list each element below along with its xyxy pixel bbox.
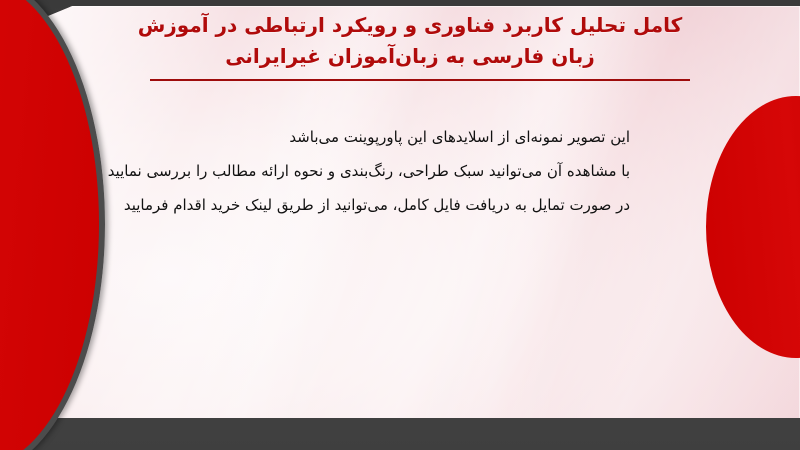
slide-body-text: این تصویر نمونه‌ای از اسلایدهای این پاور… [160,120,630,222]
title-divider-rule [150,79,690,81]
body-line-3: در صورت تمایل به دریافت فایل کامل، می‌تو… [160,188,630,222]
title-line-2: زبان فارسی به زبان‌آموزان غیرایرانی [110,41,710,72]
presentation-slide: کامل تحلیل کاربرد فناوری و رویکرد ارتباط… [0,0,800,450]
body-line-2: با مشاهده آن می‌توانید سبک طراحی، رنگ‌بن… [160,154,630,188]
title-line-1: کامل تحلیل کاربرد فناوری و رویکرد ارتباط… [110,10,710,41]
slide-title: کامل تحلیل کاربرد فناوری و رویکرد ارتباط… [110,10,710,72]
body-line-1: این تصویر نمونه‌ای از اسلایدهای این پاور… [160,120,630,154]
